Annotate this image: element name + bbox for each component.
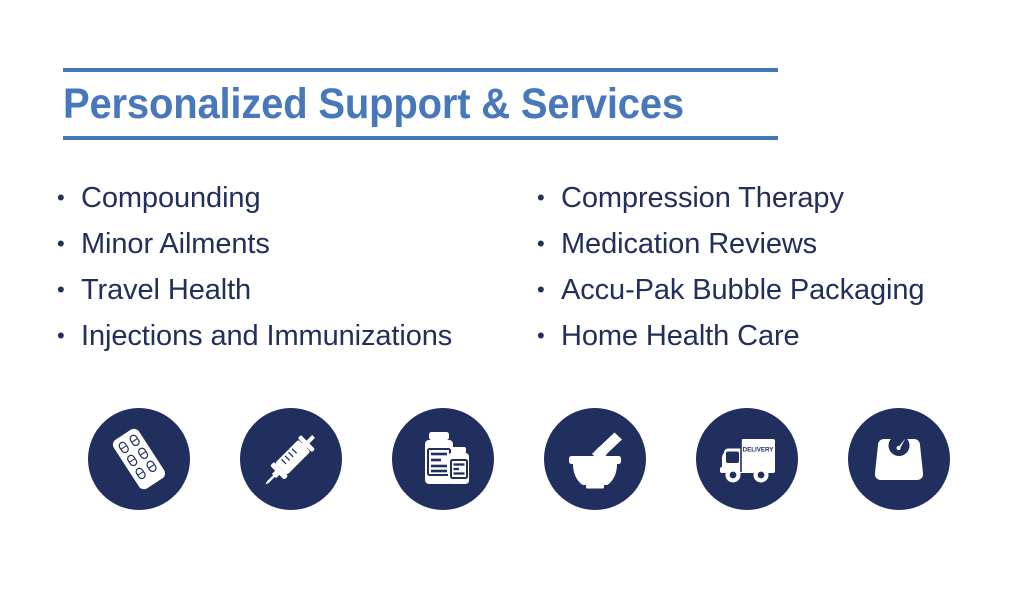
bullet-icon: • [537, 325, 561, 347]
icon-cell-blister-pack [88, 408, 240, 510]
mortar-pestle-icon [544, 408, 646, 510]
icon-cell-weight-scale [848, 408, 1000, 510]
bullet-icon: • [57, 187, 81, 209]
service-label: Compounding [81, 181, 260, 215]
list-item: • Compounding [57, 181, 500, 227]
delivery-van-icon: DELIVERY [696, 408, 798, 510]
bullet-icon: • [57, 279, 81, 301]
service-label: Home Health Care [561, 319, 800, 353]
services-left-column: • Compounding • Minor Ailments • Travel … [0, 181, 500, 365]
title-bottom-rule [63, 136, 778, 140]
service-icon-row: DELIVERY [88, 408, 962, 510]
bullet-icon: • [57, 325, 81, 347]
service-label: Medication Reviews [561, 227, 817, 261]
syringe-icon [240, 408, 342, 510]
service-label: Injections and Immunizations [81, 319, 452, 353]
blister-pack-icon [88, 408, 190, 510]
services-right-column: • Compression Therapy • Medication Revie… [500, 181, 1000, 365]
list-item: • Medication Reviews [537, 227, 1000, 273]
services-slide: Personalized Support & Services • Compou… [0, 0, 1025, 590]
van-delivery-text: DELIVERY [743, 447, 775, 454]
icon-cell-delivery-van: DELIVERY [696, 408, 848, 510]
list-item: • Home Health Care [537, 319, 1000, 365]
icon-cell-medicine-bottles [392, 408, 544, 510]
list-item: • Travel Health [57, 273, 500, 319]
list-item: • Compression Therapy [537, 181, 1000, 227]
service-label: Compression Therapy [561, 181, 844, 215]
service-label: Travel Health [81, 273, 251, 307]
list-item: • Minor Ailments [57, 227, 500, 273]
icon-cell-mortar-pestle [544, 408, 696, 510]
bullet-icon: • [537, 279, 561, 301]
service-label: Accu-Pak Bubble Packaging [561, 273, 924, 307]
bullet-icon: • [537, 187, 561, 209]
weight-scale-icon [848, 408, 950, 510]
page-title: Personalized Support & Services [63, 72, 728, 136]
bullet-icon: • [537, 233, 561, 255]
list-item: • Accu-Pak Bubble Packaging [537, 273, 1000, 319]
icon-cell-syringe [240, 408, 392, 510]
service-label: Minor Ailments [81, 227, 270, 261]
medicine-bottles-icon [392, 408, 494, 510]
list-item: • Injections and Immunizations [57, 319, 500, 365]
bullet-icon: • [57, 233, 81, 255]
services-columns: • Compounding • Minor Ailments • Travel … [0, 181, 1025, 365]
title-block: Personalized Support & Services [63, 68, 778, 140]
